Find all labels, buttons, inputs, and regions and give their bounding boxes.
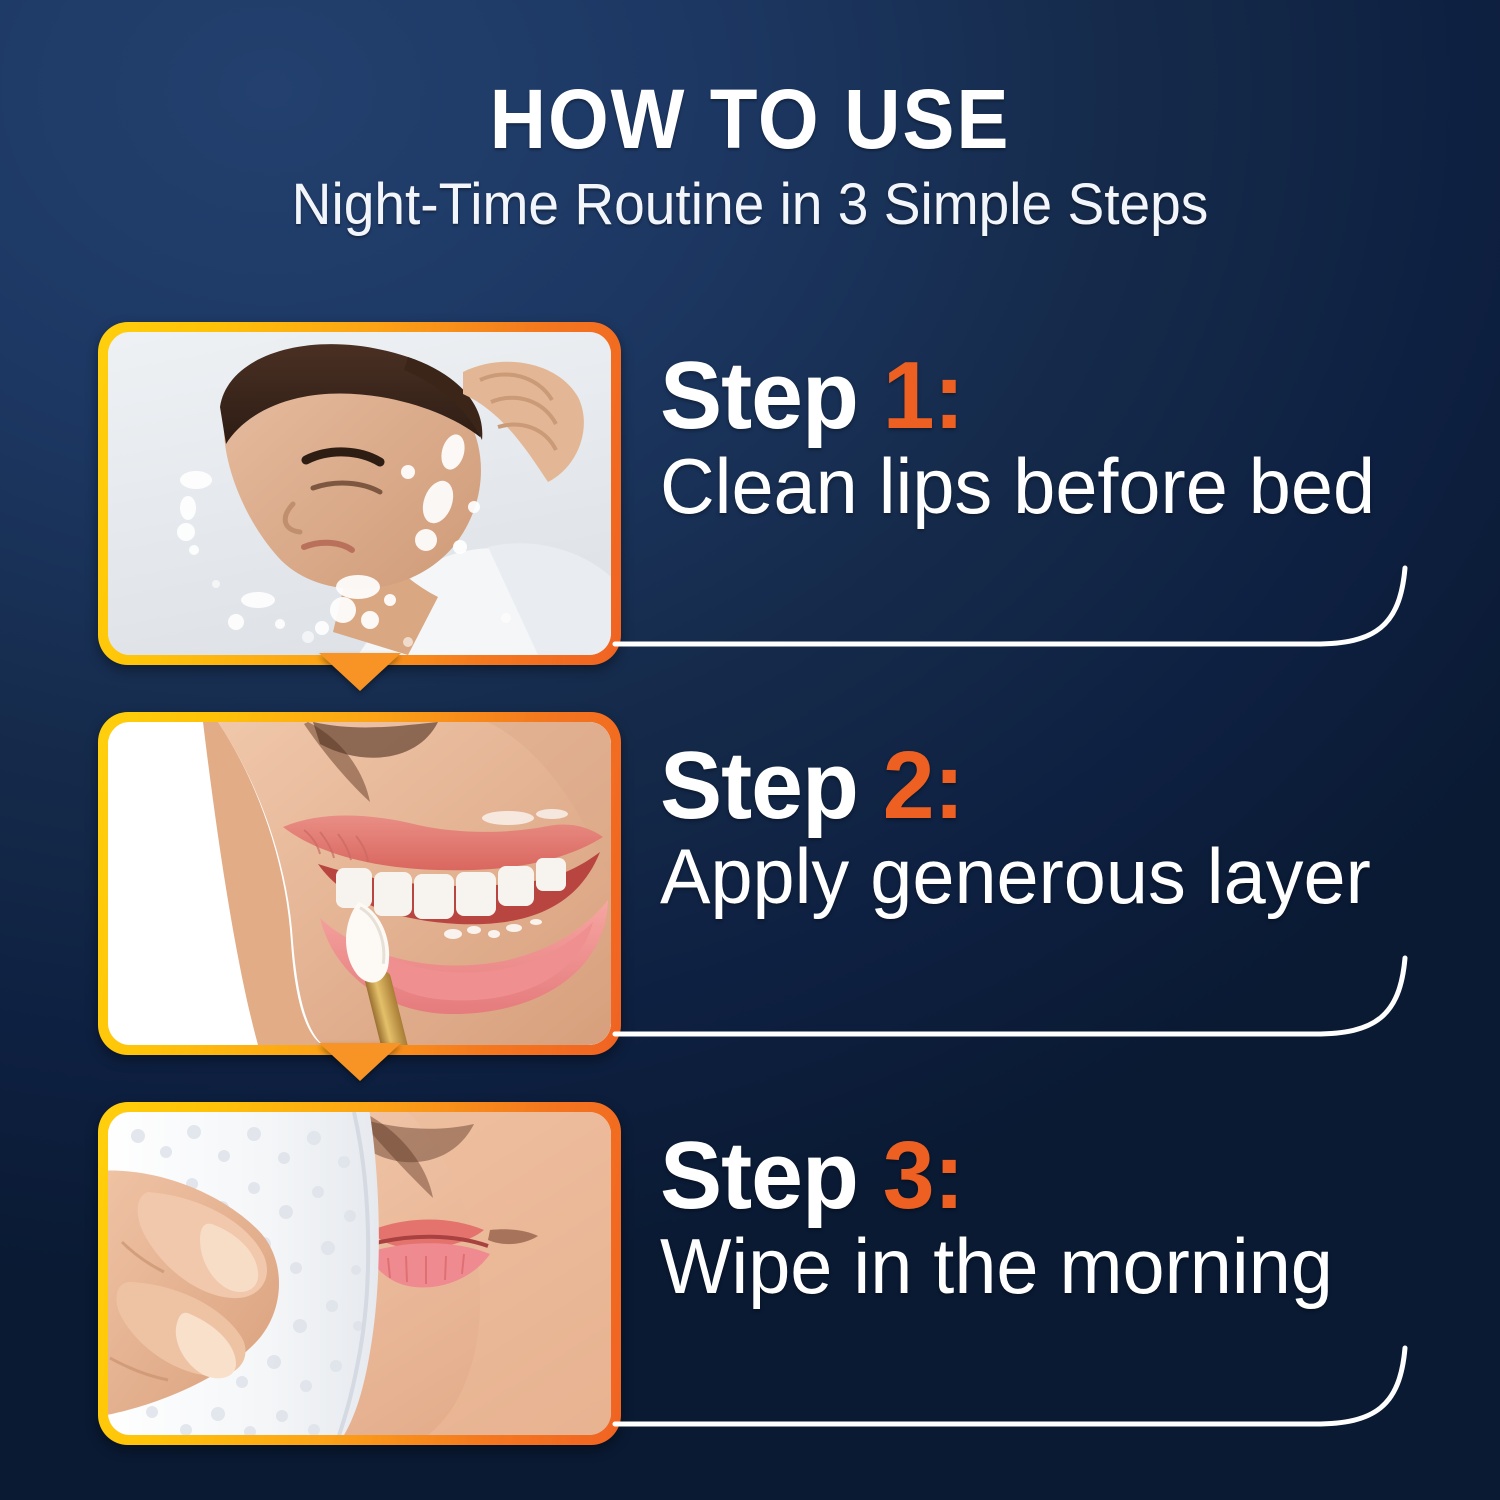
page-subtitle: Night-Time Routine in 3 Simple Steps: [38, 172, 1463, 238]
step-1-connector-arrow-icon: [319, 653, 401, 691]
step-1-head-label: Step: [660, 342, 858, 449]
step-2-image-card: [98, 712, 621, 1055]
washing-face-illustration: [108, 332, 611, 655]
step-row-3: Step 3: Wipe in the morning: [0, 1080, 1500, 1470]
step-2-heading: Step 2:: [660, 736, 1426, 836]
header: HOW TO USE Night-Time Routine in 3 Simpl…: [0, 72, 1500, 238]
step-row-2: Step 2: Apply generous layer: [0, 690, 1500, 1080]
step-1-description: Clean lips before bed: [660, 440, 1426, 532]
step-3-heading: Step 3:: [660, 1126, 1426, 1226]
step-3-description: Wipe in the morning: [660, 1220, 1426, 1312]
page-title: HOW TO USE: [53, 72, 1448, 166]
steps-list: Step 1: Clean lips before bed: [0, 300, 1500, 1470]
step-2-description: Apply generous layer: [660, 830, 1426, 922]
step-3-number: 3:: [883, 1122, 964, 1229]
step-2-connector-arrow-icon: [319, 1043, 401, 1081]
how-to-use-infographic: HOW TO USE Night-Time Routine in 3 Simpl…: [0, 0, 1500, 1500]
step-1-image-card: [98, 322, 621, 665]
step-3-text: Step 3: Wipe in the morning: [660, 1126, 1450, 1312]
step-2-underline-icon: [615, 958, 1425, 1078]
step-1-underline: [615, 568, 1425, 688]
washing-face-photo: [108, 332, 611, 655]
step-2-head-label: Step: [660, 732, 858, 839]
step-1-underline-icon: [615, 568, 1425, 688]
step-2-number: 2:: [883, 732, 964, 839]
step-row-1: Step 1: Clean lips before bed: [0, 300, 1500, 690]
step-3-underline: [615, 1348, 1425, 1468]
step-1-text: Step 1: Clean lips before bed: [660, 346, 1450, 532]
step-1-heading: Step 1:: [660, 346, 1426, 446]
wiping-lips-photo: [108, 1112, 611, 1435]
applying-lip-product-photo: [108, 722, 611, 1045]
step-2-underline: [615, 958, 1425, 1078]
towel-wipe-illustration: [108, 1112, 611, 1435]
lip-application-illustration: [108, 722, 611, 1045]
step-3-underline-icon: [615, 1348, 1425, 1468]
step-3-image-card: [98, 1102, 621, 1445]
step-1-number: 1:: [883, 342, 964, 449]
step-3-head-label: Step: [660, 1122, 858, 1229]
step-2-text: Step 2: Apply generous layer: [660, 736, 1450, 922]
